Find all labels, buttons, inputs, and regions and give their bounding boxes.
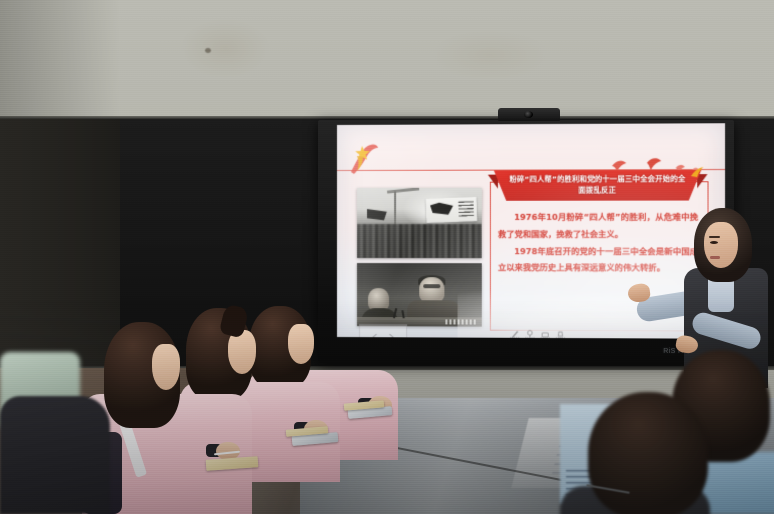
slide-paragraph-1: 1976年10月粉碎“四人帮”的胜利，从危难中挽救了党和国家，挽救了社会主义。: [498, 209, 698, 243]
classroom-scene: 粉碎“四人帮”的胜利和党的十一届三中全会开始的全面拨乱反正 1976年10月粉碎…: [0, 0, 774, 514]
wall-stain: [180, 18, 270, 78]
party-emblem-icon: [349, 142, 379, 175]
wall-stain: [430, 30, 550, 80]
slide-paragraph-2: 1978年底召开的党的十一届三中全会是新中国成立以来我党历史上具有深远意义的伟大…: [498, 243, 698, 277]
slide-body-text: 1976年10月粉碎“四人帮”的胜利，从危难中挽救了党和国家，挽救了社会主义。 …: [498, 209, 698, 277]
slide-title-banner: 粉碎“四人帮”的胜利和党的十一届三中全会开始的全面拨乱反正: [494, 170, 701, 201]
camera-lens-icon: [524, 111, 533, 118]
webcam-module: [498, 108, 560, 121]
wall-mark: [205, 48, 211, 53]
presenter-mouth: [710, 256, 720, 259]
presenter-eyebrow: [709, 236, 720, 238]
presenter-eye: [710, 241, 718, 244]
historical-photo-crowd: [357, 188, 482, 258]
ambient-shadow: [0, 300, 774, 514]
ribbon-accent-icon: [690, 166, 704, 178]
presenter-face: [704, 222, 738, 268]
